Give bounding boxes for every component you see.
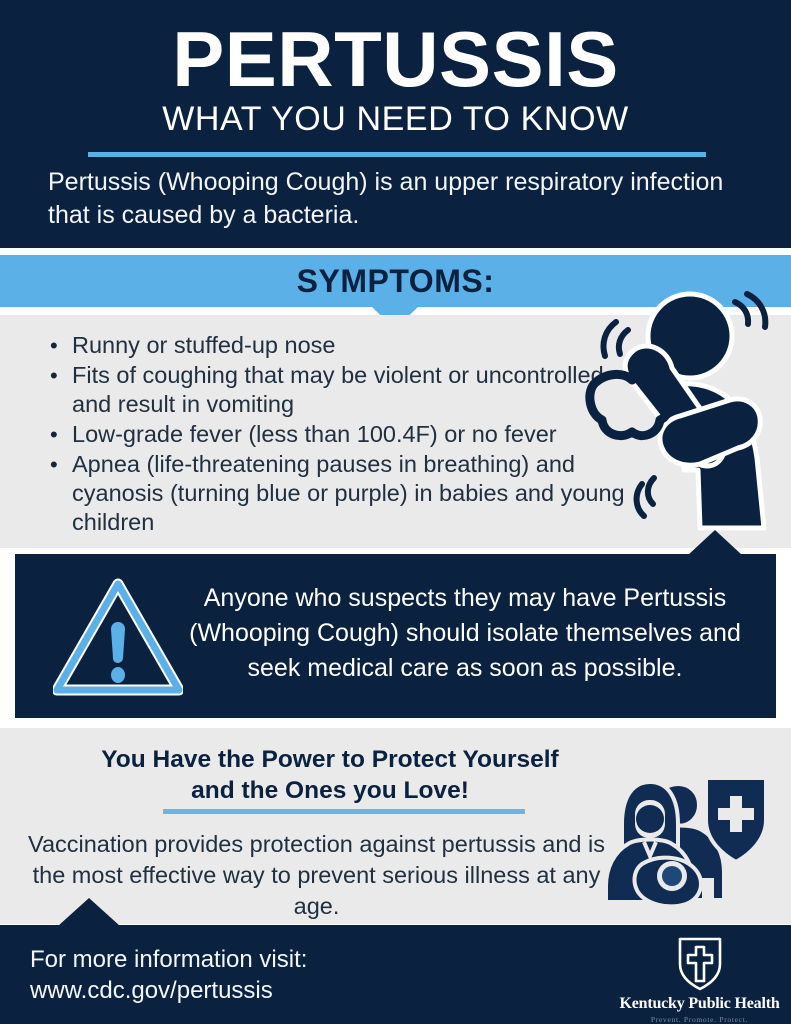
- list-item: Runny or stuffed-up nose: [70, 331, 630, 360]
- footer-info-label: For more information visit:: [30, 946, 307, 973]
- vaccine-heading-line-1: You Have the Power to Protect Yourself: [101, 746, 558, 773]
- warning-text: Anyone who suspects they may have Pertus…: [170, 581, 760, 686]
- warning-box: Anyone who suspects they may have Pertus…: [15, 554, 776, 718]
- footer-notch: [58, 898, 120, 926]
- footer-url[interactable]: www.cdc.gov/pertussis: [30, 975, 307, 1006]
- logo-tagline: Prevent. Promote. Protect.: [617, 1014, 782, 1024]
- list-item: Fits of coughing that may be violent or …: [70, 361, 630, 419]
- symptoms-list: Runny or stuffed-up nose Fits of coughin…: [40, 331, 630, 538]
- family-shield-icon: [600, 772, 772, 907]
- kentucky-public-health-shield-icon: [617, 936, 782, 991]
- kentucky-public-health-logo: Kentucky Public Health Prevent. Promote.…: [617, 936, 782, 1020]
- vaccine-heading: You Have the Power to Protect Yourself a…: [30, 744, 630, 806]
- warning-box-notch: [688, 530, 742, 555]
- coughing-person-icon: [572, 288, 788, 534]
- header-divider: [88, 152, 706, 157]
- page-title: PERTUSSIS: [0, 0, 791, 100]
- warning-triangle-icon: [53, 578, 183, 696]
- vaccine-heading-line-2: and the Ones you Love!: [191, 777, 469, 804]
- logo-name: Kentucky Public Health: [617, 996, 782, 1012]
- footer-info: For more information visit: www.cdc.gov/…: [30, 944, 307, 1006]
- list-item: Apnea (life-threatening pauses in breath…: [70, 450, 630, 537]
- vaccine-divider: [163, 809, 525, 814]
- page-subtitle: WHAT YOU NEED TO KNOW: [0, 100, 791, 138]
- list-item: Low-grade fever (less than 100.4F) or no…: [70, 420, 630, 449]
- header-description: Pertussis (Whooping Cough) is an upper r…: [0, 166, 791, 232]
- pertussis-infographic: PERTUSSIS WHAT YOU NEED TO KNOW Pertussi…: [0, 0, 791, 1024]
